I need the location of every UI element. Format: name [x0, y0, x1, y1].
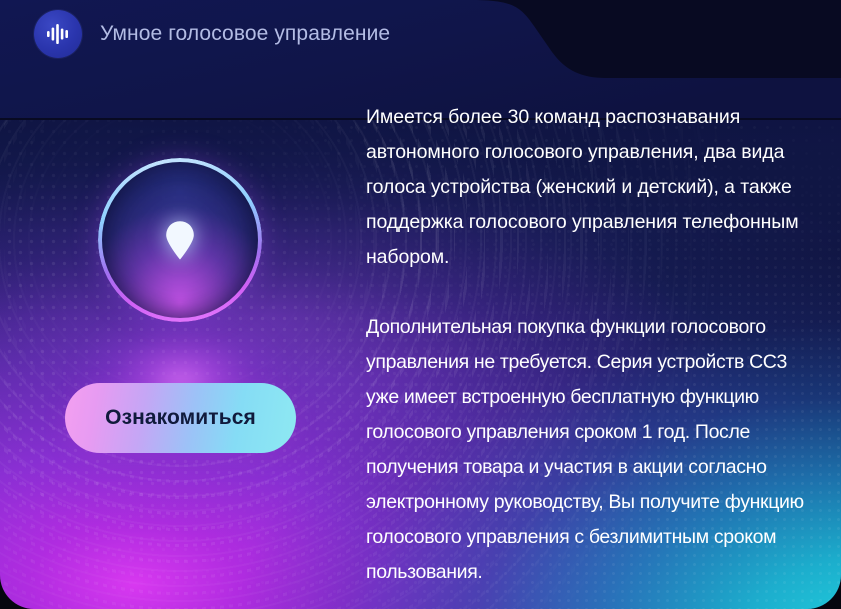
- voice-waveform-icon[interactable]: [34, 10, 82, 58]
- description-block: Имеется более 30 команд распознавания ав…: [366, 100, 818, 590]
- description-paragraph-1: Имеется более 30 команд распознавания ав…: [366, 100, 818, 275]
- page-title: Умное голосовое управление: [100, 22, 390, 46]
- learn-more-button[interactable]: Ознакомиться: [65, 383, 296, 453]
- description-paragraph-2: Дополнительная покупка функции голосовог…: [366, 310, 818, 590]
- voice-control-promo-card: Умное голосовое управление Ознакомиться …: [0, 0, 841, 609]
- header-content: Умное голосовое управление: [0, 0, 390, 68]
- voice-assistant-pin-icon: [163, 220, 197, 260]
- voice-assistant-orb[interactable]: [98, 158, 262, 322]
